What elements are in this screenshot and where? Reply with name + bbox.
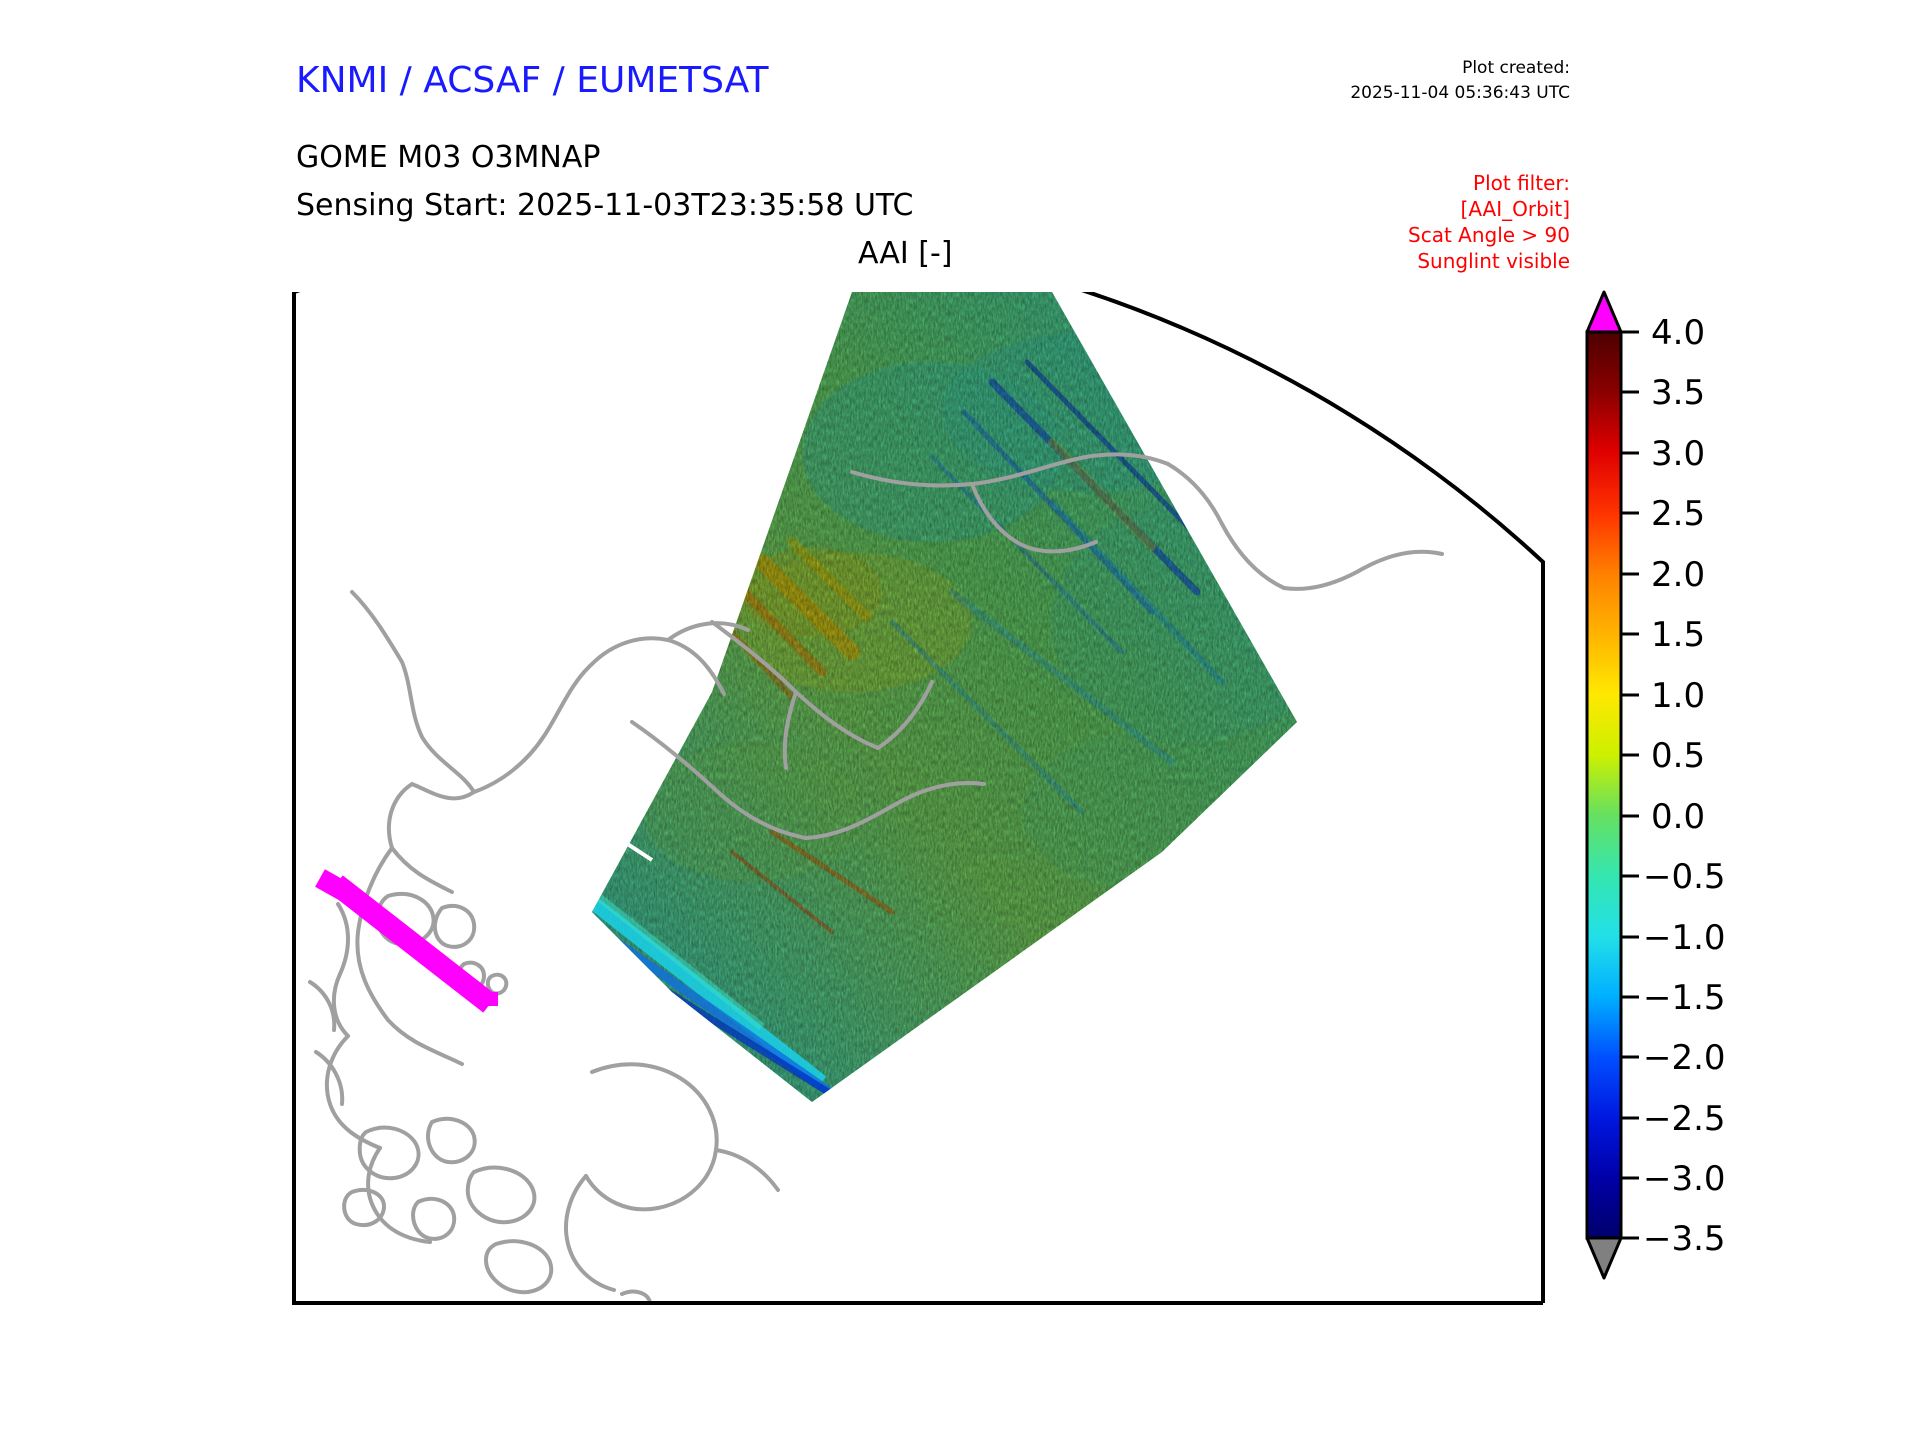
colorbar-gradient [1587, 332, 1621, 1238]
colorbar-tick-label: 0.5 [1651, 736, 1705, 776]
colorbar-tick-labels: 4.0 3.5 3.0 2.5 2.0 1.5 1.0 0.5 0.0 −0.5… [1643, 313, 1726, 1259]
colorbar-tick-label: 1.5 [1651, 615, 1705, 655]
plot-created-value: 2025-11-04 05:36:43 UTC [1240, 81, 1570, 106]
colorbar-tick-label: −2.5 [1643, 1099, 1726, 1139]
colorbar: 4.0 3.5 3.0 2.5 2.0 1.5 1.0 0.5 0.0 −0.5… [1565, 286, 1865, 1306]
colorbar-tick-label: −0.5 [1643, 857, 1726, 897]
dataset-title: GOME M03 O3MNAP [296, 140, 600, 175]
colorbar-tick-label: 1.0 [1651, 676, 1705, 716]
colorbar-tick-label: −2.0 [1643, 1038, 1726, 1078]
colorbar-ticks [1621, 332, 1639, 1238]
colorbar-svg: 4.0 3.5 3.0 2.5 2.0 1.5 1.0 0.5 0.0 −0.5… [1565, 286, 1865, 1306]
plot-filter-line-2: [AAI_Orbit] [1230, 196, 1570, 222]
colorbar-tick-label: 4.0 [1651, 313, 1705, 353]
organisation-title: KNMI / ACSAF / EUMETSAT [296, 60, 768, 101]
sensing-start-label: Sensing Start: 2025-11-03T23:35:58 UTC [296, 188, 913, 223]
colorbar-over-arrow [1587, 292, 1621, 332]
map-panel [292, 292, 1545, 1305]
plot-created-label: Plot created: [1240, 56, 1570, 81]
colorbar-tick-label: −3.0 [1643, 1159, 1726, 1199]
plot-filter-line-3: Scat Angle > 90 [1230, 222, 1570, 248]
colorbar-tick-label: 2.5 [1651, 494, 1705, 534]
plot-filter-block: Plot filter: [AAI_Orbit] Scat Angle > 90… [1230, 170, 1570, 274]
colorbar-tick-label: −3.5 [1643, 1219, 1726, 1259]
colorbar-under-arrow [1587, 1238, 1621, 1278]
plot-filter-line-4: Sunglint visible [1230, 248, 1570, 274]
colorbar-tick-label: −1.5 [1643, 978, 1726, 1018]
colorbar-tick-label: −1.0 [1643, 918, 1726, 958]
colorbar-tick-label: 0.0 [1651, 797, 1705, 837]
polar-map [292, 292, 1545, 1305]
plot-filter-line-1: Plot filter: [1230, 170, 1570, 196]
colorbar-tick-label: 3.0 [1651, 434, 1705, 474]
colorbar-tick-label: 2.0 [1651, 555, 1705, 595]
plot-created-block: Plot created: 2025-11-04 05:36:43 UTC [1240, 56, 1570, 106]
quantity-label: AAI [-] [858, 236, 953, 271]
colorbar-tick-label: 3.5 [1651, 373, 1705, 413]
